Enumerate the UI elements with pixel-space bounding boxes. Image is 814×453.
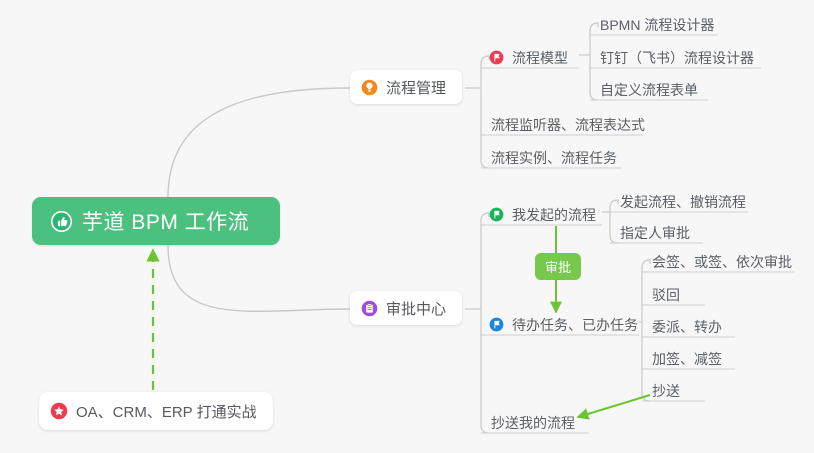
- node-todo-done-tasks-label: 待办任务、已办任务: [512, 318, 638, 332]
- node-countersign-orsign-sequential-label: 会签、或签、依次审批: [652, 255, 792, 269]
- node-process-listener-expression[interactable]: 流程监听器、流程表达式: [487, 108, 651, 135]
- node-process-model-label: 流程模型: [512, 51, 568, 65]
- root-node-label: 芋道 BPM 工作流: [82, 206, 249, 236]
- node-cc-to-me-process[interactable]: 抄送我的流程: [487, 406, 581, 433]
- branch-approval-center[interactable]: 审批中心: [350, 291, 462, 325]
- node-bpmn-designer[interactable]: BPMN 流程设计器: [596, 8, 720, 35]
- node-process-listener-expression-label: 流程监听器、流程表达式: [491, 118, 645, 132]
- node-dingtalk-feishu-designer[interactable]: 钉钉（飞书）流程设计器: [596, 41, 760, 68]
- thumbs-up-icon: [50, 210, 73, 233]
- approval-tag[interactable]: 审批: [535, 253, 581, 280]
- node-countersign-orsign-sequential[interactable]: 会签、或签、依次审批: [648, 245, 798, 272]
- node-start-cancel-process[interactable]: 发起流程、撤销流程: [616, 185, 752, 212]
- node-my-initiated-process-label: 我发起的流程: [512, 208, 596, 222]
- node-add-remove-sign-label: 加签、减签: [652, 352, 722, 366]
- root-node[interactable]: 芋道 BPM 工作流: [32, 197, 280, 245]
- node-process-instance-task[interactable]: 流程实例、流程任务: [487, 141, 623, 168]
- mindmap-canvas: 芋道 BPM 工作流 流程管理 流程模型 BPMN 流程设计器 钉钉（飞书）流程…: [0, 0, 814, 453]
- node-dingtalk-feishu-designer-label: 钉钉（飞书）流程设计器: [600, 51, 754, 65]
- node-assignee-approval-label: 指定人审批: [620, 226, 690, 240]
- flag-icon-red: [489, 50, 504, 65]
- node-cc-to-me-process-label: 抄送我的流程: [491, 416, 575, 430]
- node-custom-process-form-label: 自定义流程表单: [600, 83, 698, 97]
- node-custom-process-form[interactable]: 自定义流程表单: [596, 73, 704, 100]
- edge-root-to-approval-center: [168, 245, 350, 311]
- node-bpmn-designer-label: BPMN 流程设计器: [600, 18, 714, 32]
- node-cc-label: 抄送: [652, 384, 680, 398]
- clipboard-icon: [361, 300, 378, 317]
- flag-icon-blue: [489, 317, 504, 332]
- node-assignee-approval[interactable]: 指定人审批: [616, 216, 696, 243]
- flag-icon-green: [489, 207, 504, 222]
- branch-process-management[interactable]: 流程管理: [350, 70, 462, 104]
- node-oa-crm-erp-label: OA、CRM、ERP 打通实战: [76, 401, 257, 422]
- node-process-model[interactable]: 流程模型: [487, 41, 574, 68]
- node-my-initiated-process[interactable]: 我发起的流程: [487, 198, 602, 225]
- lightbulb-icon: [361, 79, 378, 96]
- branch-process-management-label: 流程管理: [386, 77, 446, 98]
- star-icon: [50, 402, 68, 420]
- node-start-cancel-process-label: 发起流程、撤销流程: [620, 195, 746, 209]
- node-reject-label: 驳回: [652, 288, 680, 302]
- node-add-remove-sign[interactable]: 加签、减签: [648, 342, 728, 369]
- arrow-cc-to-cc-to-me: [578, 395, 650, 417]
- node-cc[interactable]: 抄送: [648, 374, 686, 401]
- node-todo-done-tasks[interactable]: 待办任务、已办任务: [487, 308, 644, 335]
- node-delegate-transfer[interactable]: 委派、转办: [648, 310, 728, 337]
- node-delegate-transfer-label: 委派、转办: [652, 320, 722, 334]
- approval-tag-label: 审批: [545, 257, 571, 276]
- node-oa-crm-erp[interactable]: OA、CRM、ERP 打通实战: [39, 392, 273, 430]
- node-reject[interactable]: 驳回: [648, 278, 686, 305]
- node-process-instance-task-label: 流程实例、流程任务: [491, 151, 617, 165]
- branch-approval-center-label: 审批中心: [386, 298, 446, 319]
- edge-root-to-process-management: [168, 88, 350, 197]
